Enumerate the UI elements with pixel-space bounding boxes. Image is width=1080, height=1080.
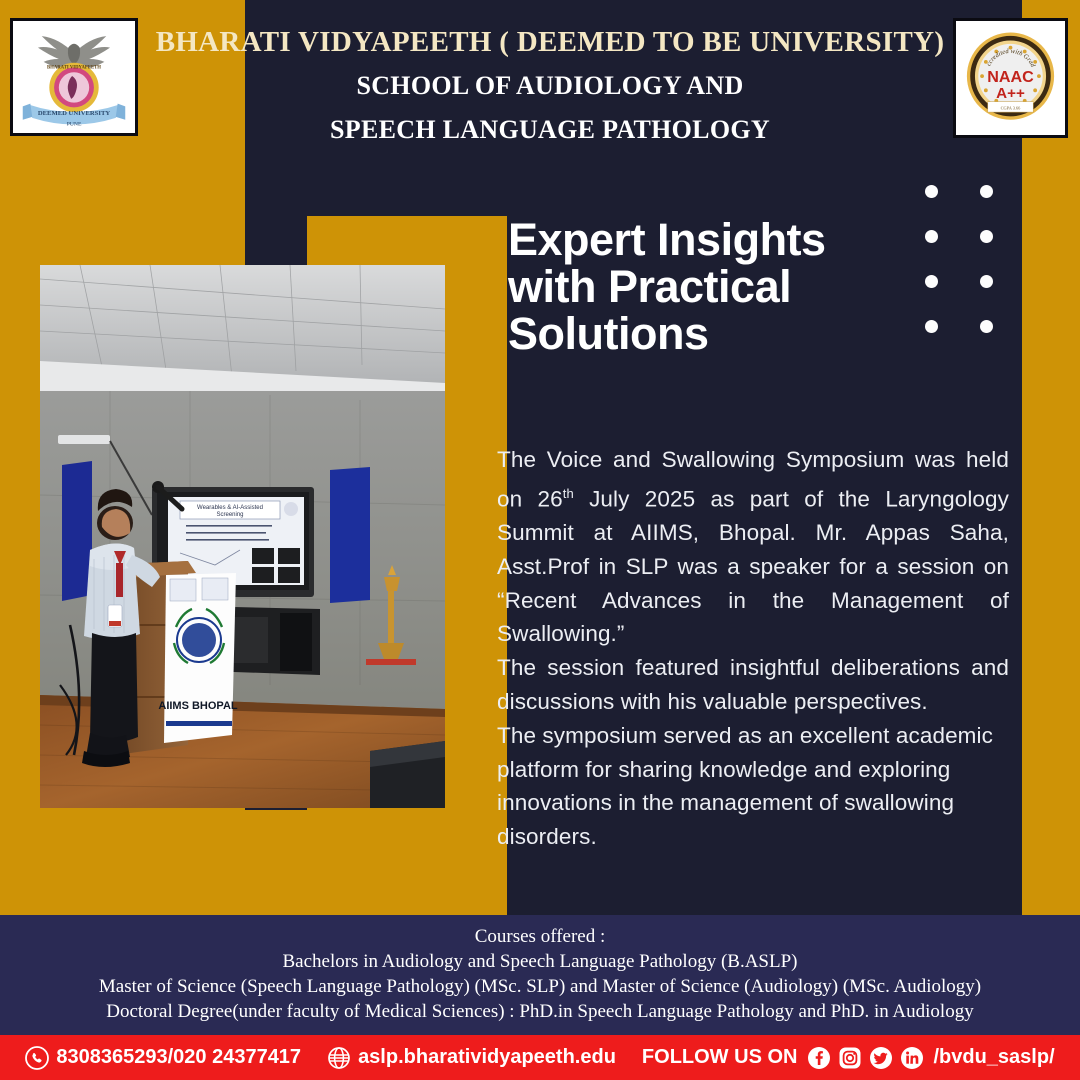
grid-dot — [925, 185, 938, 198]
grid-dot — [980, 185, 993, 198]
course-item-2: Doctoral Degree(under faculty of Medical… — [0, 999, 1080, 1024]
social-handle[interactable]: /bvdu_saslp/ — [933, 1046, 1054, 1069]
headline-line-1: Expert Insights — [508, 216, 908, 263]
description-paragraph-3: The symposium served as an excellent aca… — [497, 719, 1009, 854]
svg-text:AIIMS BHOPAL: AIIMS BHOPAL — [158, 700, 238, 712]
globe-icon — [327, 1046, 351, 1070]
event-photo: Wearables & AI-Assisted Screening — [40, 265, 445, 808]
website-group[interactable]: aslp.bharatividyapeeth.edu — [327, 1046, 616, 1070]
twitter-icon[interactable] — [869, 1046, 893, 1070]
svg-text:BHARATI VIDYAPEETH: BHARATI VIDYAPEETH — [47, 65, 101, 70]
follow-us-label: FOLLOW US ON — [642, 1046, 798, 1069]
svg-text:Screening: Screening — [216, 512, 243, 518]
phone-icon — [25, 1046, 49, 1070]
phone-number[interactable]: 8308365293/020 24377417 — [56, 1046, 301, 1069]
svg-text:A++: A++ — [996, 85, 1025, 102]
desc-p1-part2: July 2025 as part of the Laryngology Sum… — [497, 486, 1009, 646]
grid-dot — [925, 320, 938, 333]
website-url[interactable]: aslp.bharatividyapeeth.edu — [358, 1046, 616, 1069]
instagram-icon[interactable] — [838, 1046, 862, 1070]
svg-text:NAAC: NAAC — [987, 68, 1034, 86]
headline-line-3: Solutions — [508, 310, 908, 357]
course-item-1: Master of Science (Speech Language Patho… — [0, 974, 1080, 999]
grid-dot — [925, 275, 938, 288]
contact-footer-bar: 8308365293/020 24377417 aslp.bharatividy… — [0, 1035, 1080, 1080]
svg-text:DEEMED UNIVERSITY: DEEMED UNIVERSITY — [38, 110, 111, 117]
naac-accreditation-logo: Accredited with Grade NAAC A++ CGPA 3.66 — [953, 18, 1068, 138]
courses-offered-band: Courses offered : Bachelors in Audiology… — [0, 915, 1080, 1035]
social-icons — [807, 1046, 924, 1070]
follow-group: FOLLOW US ON — [642, 1046, 1055, 1070]
university-logo: BHARATI VIDYAPEETH DEEMED UNIVERSITY PUN… — [10, 18, 138, 136]
decorative-dot-grid — [925, 185, 1003, 340]
svg-text:CGPA 3.66: CGPA 3.66 — [1001, 105, 1022, 110]
description-paragraph-2: The session featured insightful delibera… — [497, 651, 1009, 719]
inner-yellow-frame-foot — [245, 810, 507, 915]
linkedin-icon[interactable] — [900, 1046, 924, 1070]
header-line-2: SCHOOL OF AUDIOLOGY AND — [150, 64, 950, 108]
headline-line-2: with Practical — [508, 263, 908, 310]
description-paragraph-1: The Voice and Swallowing Symposium was h… — [497, 443, 1009, 651]
courses-title: Courses offered : — [0, 924, 1080, 949]
institution-title: BHARATI VIDYAPEETH ( DEEMED TO BE UNIVER… — [150, 20, 950, 152]
date-ordinal-suffix: th — [563, 486, 574, 501]
grid-dot — [980, 230, 993, 243]
phone-group[interactable]: 8308365293/020 24377417 — [25, 1046, 301, 1070]
course-item-0: Bachelors in Audiology and Speech Langua… — [0, 949, 1080, 974]
grid-dot — [925, 230, 938, 243]
event-description: The Voice and Swallowing Symposium was h… — [497, 443, 1009, 854]
svg-text:Wearables & AI-Assisted: Wearables & AI-Assisted — [197, 505, 263, 511]
facebook-icon[interactable] — [807, 1046, 831, 1070]
header-line-1: BHARATI VIDYAPEETH ( DEEMED TO BE UNIVER… — [150, 20, 950, 64]
grid-dot — [980, 320, 993, 333]
svg-text:PUNE: PUNE — [67, 121, 82, 127]
page-title: Expert Insights with Practical Solutions — [508, 216, 908, 357]
poster-canvas: Wearables & AI-Assisted Screening — [0, 0, 1080, 1080]
header-line-3: SPEECH LANGUAGE PATHOLOGY — [150, 108, 950, 152]
grid-dot — [980, 275, 993, 288]
poster-header: BHARATI VIDYAPEETH DEEMED UNIVERSITY PUN… — [0, 0, 1080, 160]
